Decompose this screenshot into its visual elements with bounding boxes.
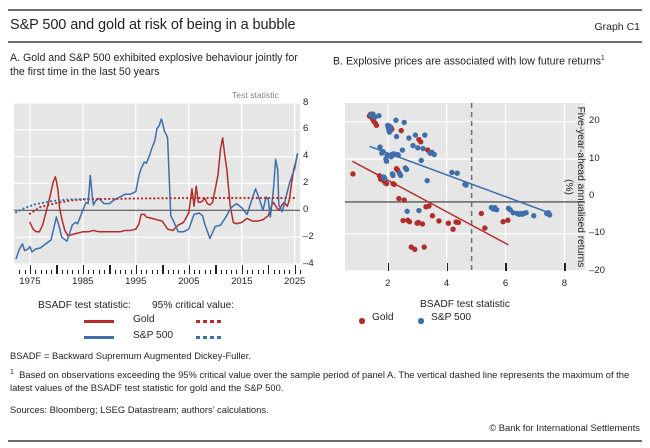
panel-a-axis-tick: [157, 270, 158, 275]
panel-a-axis-tick: [51, 270, 52, 275]
panel-a-y-tick: 8: [303, 97, 308, 108]
panel-a-legend-heading-statistic: BSADF test statistic:: [38, 300, 131, 311]
panel-a-x-tick: 2005: [167, 276, 211, 287]
panel-a-axis-tick: [93, 270, 94, 275]
panel-a-axis-tick: [88, 270, 89, 275]
legend-label-sp500: S&P 500: [133, 330, 173, 341]
panel-a-y-tick: 0: [303, 204, 308, 215]
panel-a-axis-tick: [279, 270, 280, 275]
legend-dot-gold: [359, 318, 365, 324]
panel-a-unit-label: Test statistic: [232, 90, 279, 100]
panel-a-axis-tick: [19, 270, 20, 275]
panel-a-axis-tick: [72, 270, 73, 275]
panel-a-x-tick: 2015: [220, 276, 264, 287]
panel-a-x-tick: 1975: [8, 276, 52, 287]
panel-a-axis-tick: [221, 270, 222, 275]
legend-label-b-gold: Gold: [372, 312, 394, 323]
panel-a-axis-tick: [46, 270, 47, 275]
panel-b-x-axis-title: BSADF test statistic: [345, 299, 585, 310]
panel-a-axis-tick: [125, 270, 126, 275]
panel-b-chart-svg: [345, 103, 585, 271]
panel-a-axis-tick: [295, 265, 296, 274]
legend-dot-sp500: [418, 318, 424, 324]
panel-a-x-tick: 1995: [114, 276, 158, 287]
footnote-sources: Sources: Bloomberg; LSEG Datastream; aut…: [10, 404, 269, 417]
header-rule-bottom: [8, 41, 642, 43]
panel-b-y-tick: –20: [589, 265, 605, 276]
page-title: S&P 500 and gold at risk of being in a b…: [10, 17, 295, 33]
panel-a-y-tick: 4: [303, 150, 308, 161]
legend-label-gold: Gold: [133, 314, 155, 325]
panel-a-y-tick: –2: [303, 231, 314, 242]
panel-b-x-tick: 8: [544, 278, 584, 289]
panel-a-axis-tick: [104, 270, 105, 275]
panel-a-axis-tick: [115, 270, 116, 275]
header-rule-top: [8, 9, 642, 11]
panel-a-y-tick: 2: [303, 177, 308, 188]
legend-dot-segment: [196, 336, 200, 339]
panel-b-axis-tick: [505, 263, 506, 271]
footnote-copyright: © Bank for International Settlements: [489, 422, 640, 435]
footnote-1: 1 Based on observations exceeding the 95…: [10, 367, 642, 394]
panel-a-axis-tick: [131, 270, 132, 275]
legend-dot-segment: [196, 320, 200, 323]
panel-a-axis-tick: [300, 270, 301, 275]
panel-b-x-tick: 6: [485, 278, 525, 289]
panel-a-axis-tick: [247, 270, 248, 275]
panel-b-y-tick: 10: [589, 153, 600, 164]
panel-a-axis-tick: [162, 265, 163, 274]
panel-a-axis-tick: [274, 270, 275, 275]
panel-a-plot-area: [14, 103, 300, 264]
panel-a-axis-tick: [136, 265, 137, 274]
panel-a-axis-tick: [199, 270, 200, 275]
panel-a-legend-heading-critical: 95% critical value:: [152, 300, 234, 311]
panel-b-axis-tick: [447, 263, 448, 271]
legend-dot-segment: [217, 336, 221, 339]
panel-a-axis-tick: [173, 270, 174, 275]
panel-a-axis-tick: [205, 270, 206, 275]
legend-dot-segment: [210, 336, 214, 339]
panel-a-axis-tick: [25, 270, 26, 275]
footnote-1-marker: 1: [10, 369, 14, 376]
panel-a-axis-tick: [215, 265, 216, 274]
panel-a-axis-tick: [226, 270, 227, 275]
panel-a-axis-tick: [141, 270, 142, 275]
panel-b-title-text: B. Explosive prices are associated with …: [333, 56, 601, 68]
panel-a-axis-tick: [83, 265, 84, 274]
legend-dot-segment: [217, 320, 221, 323]
panel-a-axis-tick: [178, 270, 179, 275]
panel-a-axis-tick: [189, 265, 190, 274]
panel-a-axis-tick: [99, 270, 100, 275]
panel-a-axis-tick: [289, 270, 290, 275]
panel-a-axis-tick: [146, 270, 147, 275]
panel-a-chart-svg: [14, 103, 300, 264]
panel-a-tick-rail: [14, 264, 300, 274]
legend-swatch-sp500-dotted: [196, 336, 226, 339]
panel-a-axis-tick: [67, 270, 68, 275]
panel-a-axis-tick: [109, 265, 110, 274]
panel-b-x-tick: 4: [427, 278, 467, 289]
legend-swatch-gold-dotted: [196, 320, 226, 323]
legend-dot-segment: [210, 320, 214, 323]
panel-b-y-tick: 0: [589, 190, 594, 201]
panel-a-axis-tick: [35, 270, 36, 275]
legend-swatch-sp500-line: [84, 336, 114, 339]
panel-b-title-footnote-marker: 1: [601, 55, 605, 62]
panel-b-title: B. Explosive prices are associated with …: [333, 52, 648, 69]
panel-a-axis-tick: [168, 270, 169, 275]
panel-a-axis-tick: [258, 270, 259, 275]
panel-a-axis-tick: [56, 265, 57, 274]
panel-b-axis-tick: [564, 263, 565, 271]
panel-a-x-tick: 2025: [273, 276, 317, 287]
panel-b-plot-area: [345, 103, 585, 271]
panel-a-axis-tick: [184, 270, 185, 275]
footnote-1-text: Based on observations exceeding the 95% …: [10, 369, 629, 393]
panel-a-axis-tick: [30, 265, 31, 274]
panel-a-y-tick: 6: [303, 123, 308, 134]
footer-rule: [8, 440, 642, 442]
panel-a-axis-tick: [62, 270, 63, 275]
legend-dot-segment: [203, 320, 207, 323]
panel-b-y-axis-title: Five-year-ahead annualised returns (%): [568, 104, 586, 270]
legend-swatch-gold-line: [84, 320, 114, 323]
panel-a-axis-tick: [268, 265, 269, 274]
panel-a-axis-tick: [194, 270, 195, 275]
panel-b-x-tick: 2: [368, 278, 408, 289]
panel-a-axis-tick: [210, 270, 211, 275]
panel-a-axis-tick: [120, 270, 121, 275]
panel-b-y-tick: 20: [589, 115, 600, 126]
panel-a-title: A. Gold and S&P 500 exhibited explosive …: [10, 52, 310, 79]
legend-label-b-sp500: S&P 500: [431, 312, 471, 323]
panel-a-x-tick: 1985: [61, 276, 105, 287]
panel-a-y-tick: –4: [303, 258, 314, 269]
panel-a-axis-tick: [263, 270, 264, 275]
panel-a-axis-tick: [242, 265, 243, 274]
panel-a-axis-tick: [284, 270, 285, 275]
panel-a-axis-tick: [252, 270, 253, 275]
graph-id-label: Graph C1: [594, 21, 640, 33]
panel-b-y-tick: –10: [589, 227, 605, 238]
panel-a-axis-tick: [152, 270, 153, 275]
legend-dot-segment: [203, 336, 207, 339]
panel-a-axis-tick: [78, 270, 79, 275]
panel-a-axis-tick: [236, 270, 237, 275]
panel-a-axis-tick: [231, 270, 232, 275]
footnote-bsadf-definition: BSADF = Backward Supremum Augmented Dick…: [10, 350, 251, 363]
panel-b-axis-tick: [388, 263, 389, 271]
panel-a-axis-tick: [41, 270, 42, 275]
